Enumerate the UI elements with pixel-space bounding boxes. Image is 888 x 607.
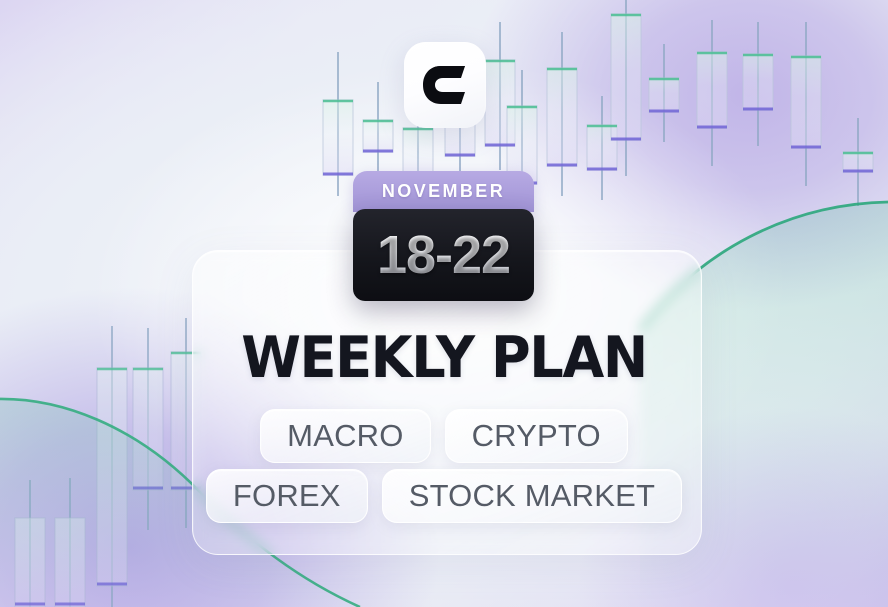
calendar-date-body: 18-22: [353, 209, 534, 301]
calendar-month-label: NOVEMBER: [382, 181, 505, 202]
calendar-month-header: NOVEMBER: [353, 171, 534, 212]
tag-stock-market[interactable]: STOCK MARKET: [382, 469, 682, 523]
tag-macro[interactable]: MACRO: [260, 409, 430, 463]
page-title: WEEKLY PLAN: [22, 325, 866, 391]
c-logo-icon: [421, 62, 469, 108]
brand-logo-tile[interactable]: [404, 42, 486, 128]
tag-crypto[interactable]: CRYPTO: [445, 409, 628, 463]
tag-row-primary: MACRO CRYPTO: [0, 409, 888, 463]
calendar-widget: NOVEMBER 18-22: [353, 171, 534, 301]
tag-forex[interactable]: FOREX: [206, 469, 368, 523]
tag-row-secondary: FOREX STOCK MARKET: [0, 469, 888, 523]
calendar-date-range: 18-22: [377, 224, 510, 286]
poster-canvas: NOVEMBER 18-22 WEEKLY PLAN MACRO CRYPTO …: [0, 0, 888, 607]
